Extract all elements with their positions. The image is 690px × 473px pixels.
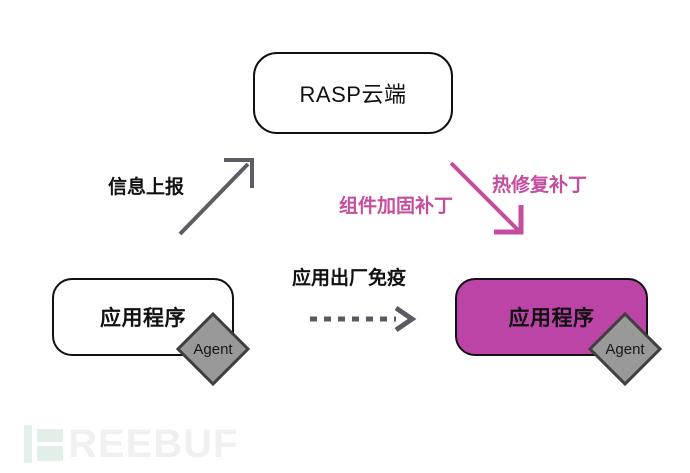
agent-badge-right[interactable]: Agent — [588, 312, 662, 386]
label-factory-immunity: 应用出厂免疫 — [292, 263, 406, 290]
watermark-text: REEBUF — [68, 423, 238, 465]
node-rasp-cloud[interactable]: RASP云端 — [253, 52, 453, 134]
watermark: REEBUF — [24, 421, 238, 467]
node-rasp-cloud-label: RASP云端 — [300, 77, 407, 109]
agent-badge-left-label: Agent — [176, 312, 250, 386]
agent-badge-left[interactable]: Agent — [176, 312, 250, 386]
freebuf-logo-icon — [24, 423, 66, 465]
label-component-patch: 组件加固补丁 — [339, 191, 453, 218]
diagram-canvas: RASP云端 应用程序 应用程序 Agent Agent 信息上报 组件加固补丁… — [0, 0, 690, 473]
label-hotfix-patch: 热修复补丁 — [492, 170, 587, 197]
node-app-protected-label: 应用程序 — [509, 302, 595, 332]
agent-badge-right-label: Agent — [588, 312, 662, 386]
node-app-plain-label: 应用程序 — [100, 302, 186, 332]
label-report: 信息上报 — [108, 172, 184, 199]
